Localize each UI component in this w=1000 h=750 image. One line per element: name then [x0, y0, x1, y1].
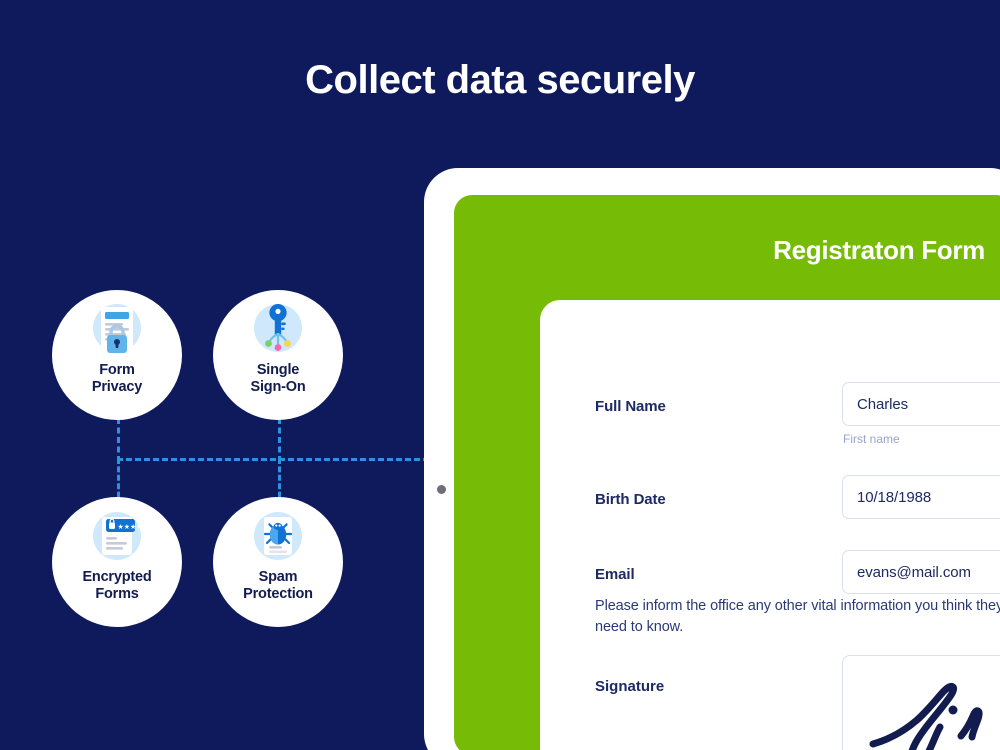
feature-spam-protection[interactable]: Spam Protection	[213, 497, 343, 627]
form-row-full-name: Full Name Charles First name	[540, 382, 1000, 438]
feature-label: Encrypted Forms	[82, 569, 151, 603]
field-label-full-name: Full Name	[595, 398, 666, 415]
handwritten-signature-icon	[857, 670, 1000, 750]
form-instructions-text: Please inform the office any other vital…	[595, 596, 1000, 638]
document-bug-icon	[248, 509, 308, 567]
feature-label: Spam Protection	[243, 569, 313, 603]
feature-label: Form Privacy	[92, 362, 142, 396]
feature-form-privacy[interactable]: Form Privacy	[52, 290, 182, 420]
email-input[interactable]: evans@mail.com	[842, 550, 1000, 594]
feature-encrypted-forms[interactable]: ★★★★ Encrypted Forms	[52, 497, 182, 627]
tablet-device: Registraton Form Full Name Charles First…	[424, 168, 1000, 750]
document-password-icon: ★★★★	[87, 509, 147, 567]
page-title: Collect data securely	[0, 58, 1000, 102]
full-name-input[interactable]: Charles	[842, 382, 1000, 426]
svg-text:★★★★: ★★★★	[118, 523, 143, 531]
signature-input[interactable]	[842, 655, 1000, 750]
field-label-signature: Signature	[595, 678, 664, 695]
field-label-email: Email	[595, 566, 635, 583]
field-label-birth-date: Birth Date	[595, 491, 666, 508]
field-helper-full-name: First name	[843, 432, 900, 446]
birth-date-input[interactable]: 10/18/1988	[842, 475, 1000, 519]
feature-label: Single Sign-On	[251, 362, 306, 396]
document-lock-icon	[87, 302, 147, 360]
key-nodes-icon	[248, 302, 308, 360]
connector-vertical-left-top	[117, 418, 120, 462]
connector-vertical-right-top	[278, 418, 281, 462]
feature-single-sign-on[interactable]: Single Sign-On	[213, 290, 343, 420]
form-card: Full Name Charles First name Birth Date …	[540, 300, 1000, 750]
camera-dot-icon	[437, 485, 446, 494]
slide-canvas: Collect data securely Form Privacy	[0, 0, 1000, 750]
connector-horizontal-main	[117, 458, 447, 461]
form-title: Registraton Form	[454, 235, 999, 266]
tablet-screen: Registraton Form Full Name Charles First…	[454, 195, 1000, 750]
form-row-birth-date: Birth Date 10/18/1988	[540, 475, 1000, 531]
